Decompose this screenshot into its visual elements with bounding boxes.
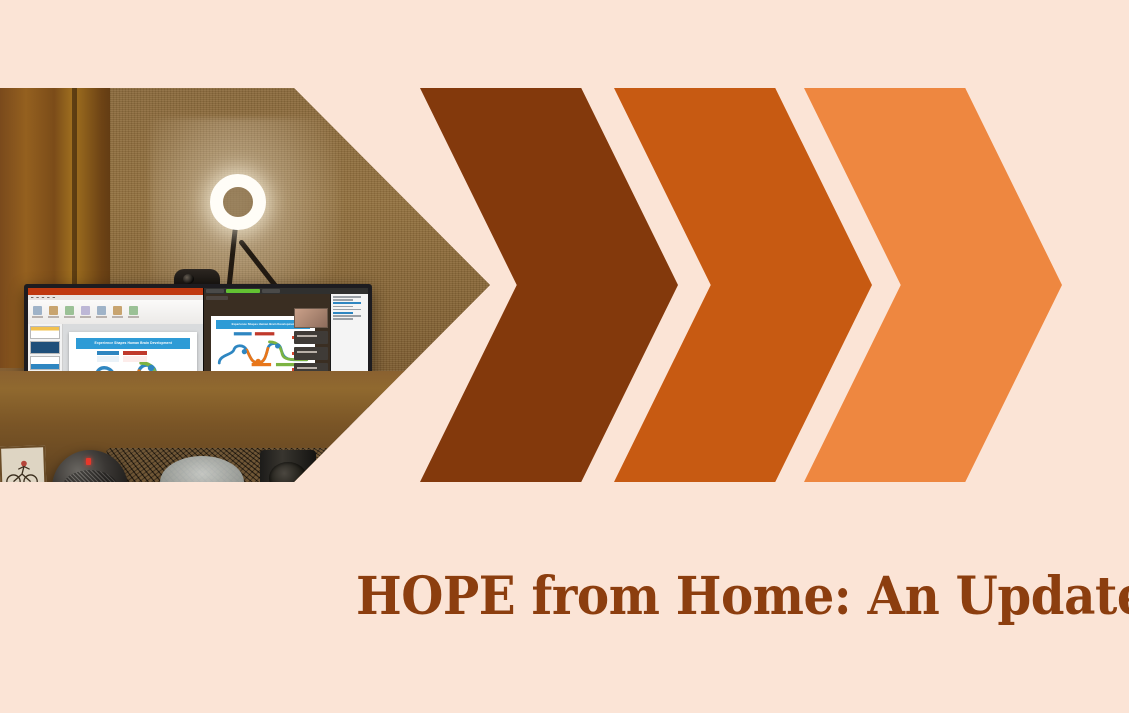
chat-line bbox=[333, 312, 353, 314]
hero-photo: ▬ ▬ ▬ ▬ ▬ bbox=[0, 88, 490, 482]
speaker-cone bbox=[269, 462, 307, 482]
stop-share-button[interactable] bbox=[262, 289, 280, 293]
ribbon-label bbox=[32, 316, 43, 318]
webcam-lens bbox=[183, 274, 194, 284]
ribbon-group[interactable] bbox=[64, 306, 75, 318]
ribbon-tab[interactable]: ▬ bbox=[53, 296, 55, 299]
chat-line bbox=[333, 302, 361, 304]
phone-handset bbox=[325, 442, 403, 470]
chat-line bbox=[333, 318, 353, 320]
ribbon-label bbox=[48, 316, 59, 318]
photo-scene: ▬ ▬ ▬ ▬ ▬ bbox=[0, 88, 490, 482]
panel-item-label bbox=[297, 367, 317, 369]
ring-light-icon bbox=[210, 174, 266, 230]
desktop-speaker bbox=[260, 450, 316, 482]
ribbon-tab[interactable]: ▬ bbox=[47, 296, 49, 299]
ribbon-group[interactable] bbox=[96, 306, 107, 318]
slide-headline: Experience Shapes Human Brain Developmen… bbox=[76, 338, 190, 349]
status-dot bbox=[292, 336, 294, 339]
chat-line bbox=[333, 315, 361, 317]
ribbon-group[interactable] bbox=[112, 306, 123, 318]
ribbon-icon bbox=[129, 306, 138, 315]
screen-share-banner bbox=[226, 289, 260, 293]
ribbon-label bbox=[128, 316, 139, 318]
ribbon-icon bbox=[113, 306, 122, 315]
chat-line bbox=[333, 299, 353, 301]
ribbon-icon bbox=[49, 306, 58, 315]
ribbon-tab[interactable]: ▬ bbox=[31, 296, 33, 299]
zoom-menu-chip[interactable] bbox=[206, 289, 224, 293]
ribbon-label bbox=[112, 316, 123, 318]
ribbon-label bbox=[96, 316, 107, 318]
chat-line bbox=[333, 296, 361, 298]
microphone-led bbox=[86, 458, 91, 465]
powerpoint-titlebar bbox=[28, 288, 203, 295]
ribbon-icon bbox=[81, 306, 90, 315]
slide-thumbnail[interactable] bbox=[30, 326, 60, 339]
ribbon-icon bbox=[33, 306, 42, 315]
status-dot bbox=[292, 352, 294, 355]
ribbon-group[interactable] bbox=[128, 306, 139, 318]
participant-video-thumbnail[interactable] bbox=[294, 308, 328, 328]
ribbon-label bbox=[64, 316, 75, 318]
ribbon-icon bbox=[65, 306, 74, 315]
wire-cyclist-sculpture-icon bbox=[4, 454, 42, 482]
panel-item-label bbox=[297, 335, 317, 337]
ribbon-icon bbox=[97, 306, 106, 315]
powerpoint-ribbon bbox=[28, 300, 203, 325]
page-title: HOPE from Home: An Update bbox=[356, 570, 1007, 625]
ribbon-label bbox=[80, 316, 91, 318]
panel-item-label bbox=[297, 351, 317, 353]
ribbon-tab[interactable]: ▬ bbox=[36, 296, 38, 299]
banner-band: ▬ ▬ ▬ ▬ ▬ bbox=[0, 88, 1129, 482]
slide-thumbnail[interactable] bbox=[30, 356, 60, 369]
chat-line bbox=[333, 309, 361, 311]
zoom-panel-item[interactable] bbox=[294, 347, 328, 360]
ribbon-tab[interactable]: ▬ bbox=[42, 296, 44, 299]
ribbon-group[interactable] bbox=[48, 306, 59, 318]
ribbon-group[interactable] bbox=[80, 306, 91, 318]
slide-thumbnail[interactable] bbox=[30, 341, 60, 354]
slide-canvas: ▬ ▬ ▬ ▬ ▬ bbox=[0, 0, 1129, 713]
ribbon-group[interactable] bbox=[32, 306, 43, 318]
microphone-grille bbox=[62, 470, 118, 482]
zoom-panel-item[interactable] bbox=[294, 331, 328, 344]
desk-phone bbox=[320, 451, 397, 482]
chat-line bbox=[333, 306, 353, 308]
zoom-share-label bbox=[206, 296, 228, 300]
